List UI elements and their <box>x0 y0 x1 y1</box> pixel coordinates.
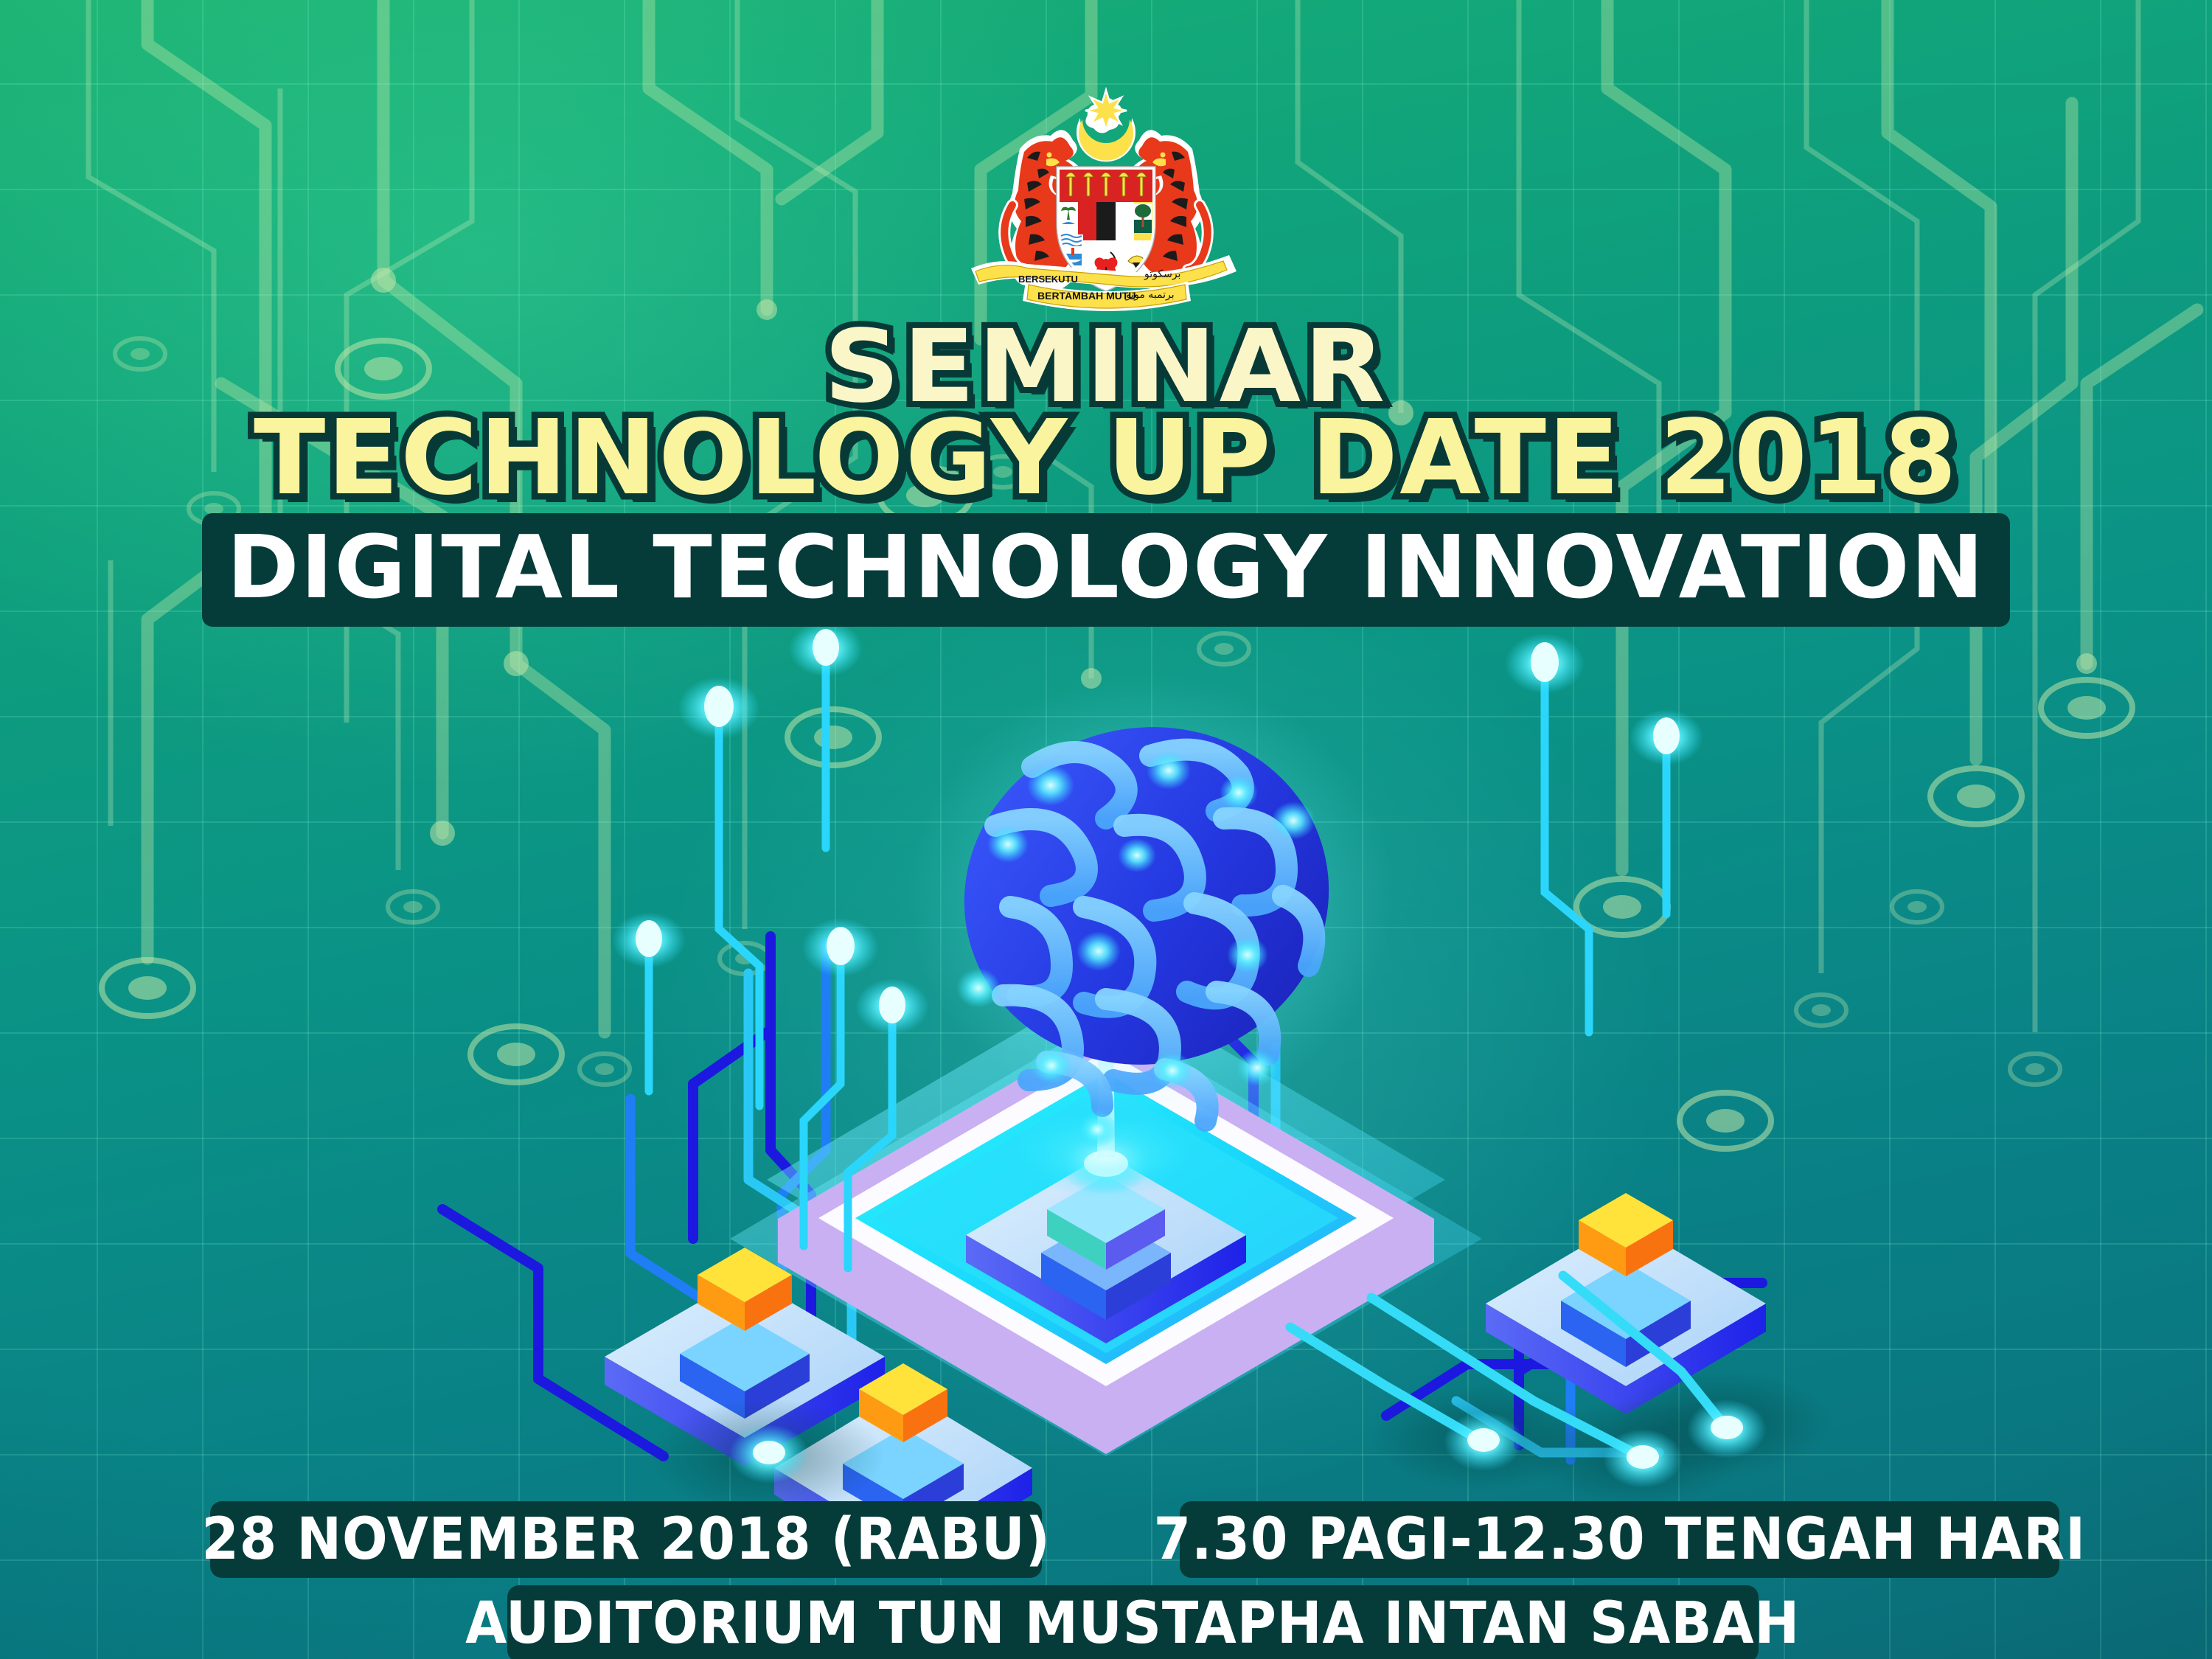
event-venue-text: AUDITORIUM TUN MUSTAPHA INTAN SABAH <box>465 1590 1800 1657</box>
poster-canvas: BERSEKUTU برسكوتو BERTAMBAH MUTU برتمبه … <box>0 0 2212 1659</box>
title-block: SEMINAR TECHNOLOGY UP DATE 2018 DIGITAL … <box>0 317 2212 627</box>
event-venue-banner: AUDITORIUM TUN MUSTAPHA INTAN SABAH <box>507 1585 1759 1659</box>
malaysia-coat-of-arms-emblem: BERSEKUTU برسكوتو BERTAMBAH MUTU برتمبه … <box>956 87 1256 316</box>
title-technology-update: TECHNOLOGY UP DATE 2018 <box>0 407 2212 510</box>
event-time-text: 7.30 PAGI-12.30 TENGAH HARI <box>1153 1506 2085 1573</box>
motto-bersekutu: BERSEKUTU <box>1018 274 1078 285</box>
subtitle-banner: DIGITAL TECHNOLOGY INNOVATION <box>202 513 2011 627</box>
event-time-banner: 7.30 PAGI-12.30 TENGAH HARI <box>1180 1501 2059 1578</box>
title-digital-technology-innovation: DIGITAL TECHNOLOGY INNOVATION <box>227 524 1986 611</box>
motto-jawi-right: برسكوتو <box>1144 268 1180 280</box>
event-date-text: 28 NOVEMBER 2018 (RABU) <box>201 1506 1051 1573</box>
event-date-banner: 28 NOVEMBER 2018 (RABU) <box>210 1501 1042 1578</box>
motto-bertambah-mutu: BERTAMBAH MUTU <box>1037 290 1136 302</box>
motto-jawi-bottom: برتمبه موتو <box>1125 289 1175 301</box>
